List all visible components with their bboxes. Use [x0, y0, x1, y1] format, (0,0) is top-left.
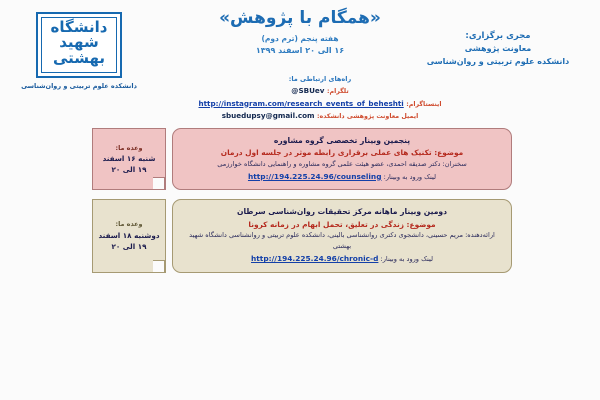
page-date-range: ۱۶ الی ۲۰ اسفند ۱۳۹۹ — [160, 45, 440, 57]
event-date-badge: وعده ما: شنبه ۱۶ اسفند ۱۹ الی ۲۰ — [92, 128, 166, 190]
email-label: ایمیل معاونت پژوهشی دانشکده: — [317, 113, 418, 120]
page-title: «همگام با پژوهش» — [160, 8, 440, 28]
poster-canvas: دانشگاه شهید بهشتی دانشکده علوم تربیتی و… — [0, 0, 600, 400]
event-date-day: شنبه ۱۶ اسفند — [103, 153, 156, 165]
event-date-label: وعده ما: — [116, 219, 143, 229]
poster-header: دانشگاه شهید بهشتی دانشکده علوم تربیتی و… — [0, 0, 600, 118]
contact-row-instagram: اینستاگرام: http://instagram.com/researc… — [170, 98, 470, 111]
event-speaker: سخنران: دکتر صدیقه احمدی، عضو هیئت علمی … — [183, 159, 501, 170]
organizer-line-1: معاونت پژوهشی — [408, 43, 588, 55]
telegram-handle[interactable]: @SBUev — [291, 86, 324, 95]
logo-glyph-line-3: بهشتی — [42, 51, 116, 66]
organizer-block: مجری برگزاری: معاونت پژوهشی دانشکده علوم… — [408, 30, 588, 68]
contact-row-telegram: تلگرام: @SBUev — [170, 85, 470, 98]
faculty-caption: دانشکده علوم تربیتی و روان‌شناسی — [14, 82, 144, 90]
event-link-row: لینک ورود به وبینار: http://194.225.24.9… — [183, 171, 501, 184]
event-title: دومین وبینار ماهانه مرکز تحقیقات روان‌شن… — [183, 206, 501, 218]
page-subtitle: هفته پنجم (ترم دوم) — [160, 33, 440, 44]
event-speaker: ارائه‌دهنده: مریم حسینی، دانشجوی دکتری ر… — [183, 230, 501, 252]
events-list: پنجمین وبینار تخصصی گروه مشاوره موضوع: ت… — [0, 128, 600, 282]
event-link-label: لینک ورود به وبینار: — [381, 255, 433, 263]
contact-title: راه‌های ارتباطی ما: — [170, 74, 470, 85]
event-date-badge: وعده ما: دوشنبه ۱۸ اسفند ۱۹ الی ۲۰ — [92, 199, 166, 272]
instagram-link[interactable]: http://instagram.com/research_events_of_… — [199, 99, 404, 108]
contact-row-email: ایمیل معاونت پژوهشی دانشکده: sbuedupsy@g… — [170, 110, 470, 123]
logo-calligraphy: دانشگاه شهید بهشتی — [42, 18, 116, 72]
logo-inner-frame: دانشگاه شهید بهشتی — [41, 17, 117, 73]
event-date-label: وعده ما: — [116, 143, 143, 153]
event-link-row: لینک ورود به وبینار: http://194.225.24.9… — [183, 253, 501, 266]
university-logo-block: دانشگاه شهید بهشتی دانشکده علوم تربیتی و… — [14, 12, 144, 90]
event-card: دومین وبینار ماهانه مرکز تحقیقات روان‌شن… — [172, 199, 512, 272]
contact-block: راه‌های ارتباطی ما: تلگرام: @SBUev اینست… — [170, 74, 470, 123]
telegram-label: تلگرام: — [327, 88, 349, 95]
event-subject: موضوع: تکنیک های عملی برقراری رابطه موثر… — [183, 147, 501, 159]
event-row: دومین وبینار ماهانه مرکز تحقیقات روان‌شن… — [0, 199, 600, 272]
event-title: پنجمین وبینار تخصصی گروه مشاوره — [183, 135, 501, 147]
title-group: «همگام با پژوهش» هفته پنجم (ترم دوم) ۱۶ … — [160, 8, 440, 57]
instagram-label: اینستاگرام: — [406, 101, 441, 108]
email-address[interactable]: sbuedupsy@gmail.com — [222, 111, 315, 120]
event-webinar-link[interactable]: http://194.225.24.96/counseling — [248, 172, 382, 181]
event-date-time: ۱۹ الی ۲۰ — [112, 164, 147, 176]
event-date-time: ۱۹ الی ۲۰ — [112, 241, 147, 253]
shahid-beheshti-university-logo-icon: دانشگاه شهید بهشتی — [36, 12, 122, 78]
event-card: پنجمین وبینار تخصصی گروه مشاوره موضوع: ت… — [172, 128, 512, 190]
organizer-line-2: دانشکده علوم تربیتی و روان‌شناسی — [408, 56, 588, 68]
event-row: پنجمین وبینار تخصصی گروه مشاوره موضوع: ت… — [0, 128, 600, 190]
event-date-day: دوشنبه ۱۸ اسفند — [98, 230, 159, 242]
organizer-label: مجری برگزاری: — [408, 30, 588, 43]
event-subject: موضوع: زندگی در تعلیق، تحمل ابهام در زما… — [183, 219, 501, 231]
event-webinar-link[interactable]: http://194.225.24.96/chronic-d — [251, 254, 378, 263]
event-link-label: لینک ورود به وبینار: — [384, 173, 436, 181]
